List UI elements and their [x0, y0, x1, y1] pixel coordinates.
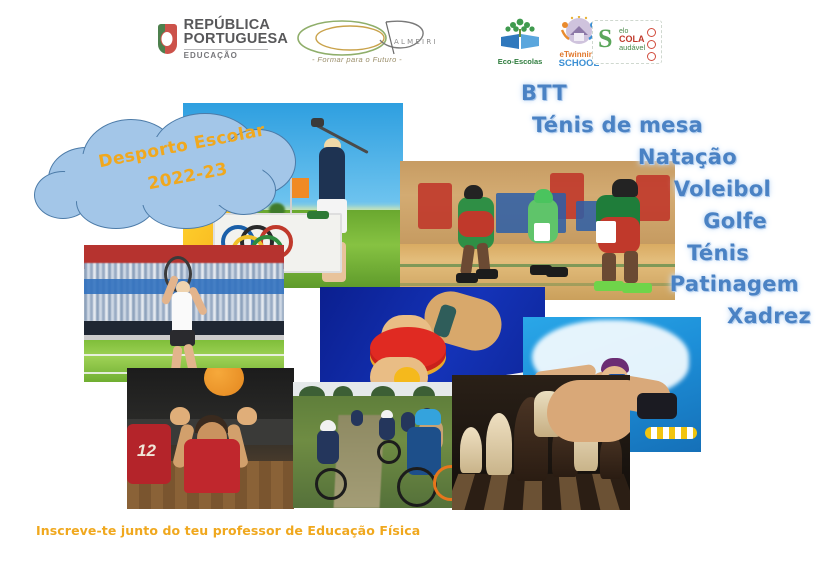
title-cloud: Desporto Escolar 2022-23: [34, 113, 302, 231]
logo-bar: REPÚBLICA PORTUGUESA EDUCAÇÃO A L M E I …: [0, 0, 823, 78]
sport-item-tenis-de-mesa: Ténis de mesa: [485, 110, 815, 142]
republica-portuguesa-logo: REPÚBLICA PORTUGUESA EDUCAÇÃO: [158, 14, 288, 64]
sport-item-tenis: Ténis: [485, 238, 815, 270]
svg-text:A L M E I R I M: A L M E I R I M: [394, 38, 435, 46]
sport-item-xadrez: Xadrez: [485, 301, 815, 333]
call-to-action-text: Inscreve-te junto do teu professor de Ed…: [36, 523, 420, 538]
rp-line2: PORTUGUESA: [184, 32, 288, 47]
tennis-photo: [84, 245, 284, 382]
rp-line1: REPÚBLICA: [184, 18, 288, 33]
selo-line3: audável: [619, 44, 645, 52]
sport-item-voleibol: Voleibol: [485, 174, 815, 206]
mountain-biking-photo: [293, 382, 460, 508]
eco-escolas-logo: Eco-Escolas: [492, 17, 548, 64]
rp-line3: EDUCAÇÃO: [184, 52, 288, 60]
desporto-escolar-poster: REPÚBLICA PORTUGUESA EDUCAÇÃO A L M E I …: [0, 0, 823, 582]
agrupamento-almeirim-logo: A L M E I R I M - Formar para o Futuro -: [290, 14, 435, 64]
portugal-shield-icon: [158, 24, 177, 54]
eco-escolas-label: Eco-Escolas: [492, 57, 548, 66]
jersey-number: 12: [137, 441, 156, 461]
sport-item-btt: BTT: [485, 78, 815, 110]
eco-book-tree-icon: [498, 17, 542, 51]
almeirim-tagline: - Formar para o Futuro -: [312, 55, 402, 64]
sport-item-golfe: Golfe: [485, 206, 815, 238]
rp-divider: [184, 49, 268, 50]
sport-item-patinagem: Patinagem: [485, 269, 815, 301]
selo-escola-saudavel-logo: S elo COLA audável: [592, 20, 662, 64]
sports-list: BTT Ténis de mesa Natação Voleibol Golfe…: [485, 78, 815, 333]
sport-item-natacao: Natação: [485, 142, 815, 174]
chess-photo: [452, 375, 630, 510]
selo-big-s: S: [598, 27, 612, 50]
volleyball-photo: 12: [127, 368, 294, 509]
selo-dots-icon: [647, 28, 656, 64]
